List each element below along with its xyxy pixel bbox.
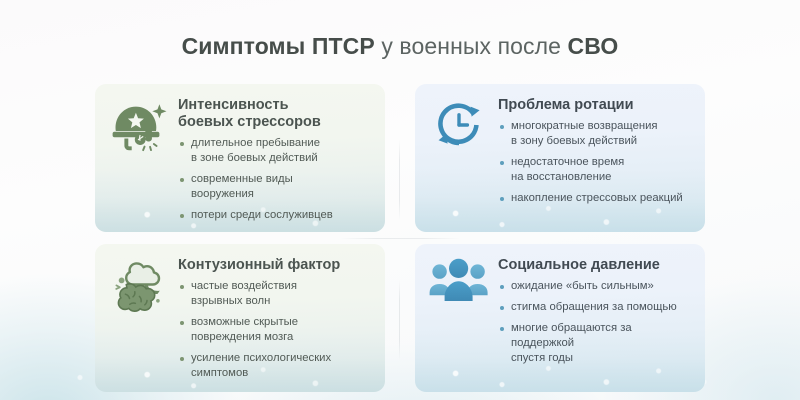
card-title-social-pressure: Социальное давление <box>498 257 692 274</box>
card-title-rotation-problem: Проблема ротации <box>498 97 692 114</box>
brain-blast-icon <box>108 256 170 320</box>
card-concussion-factor[interactable]: Контузионный фактор частые воздействия в… <box>95 244 385 392</box>
card-title-concussion-factor: Контузионный фактор <box>178 257 372 274</box>
list-item: стигма обращения за помощью <box>498 300 692 315</box>
card-body-social-pressure: Социальное давление ожидание «быть сильн… <box>498 256 692 366</box>
list-item: частые воздействия взрывных волн <box>178 279 372 309</box>
list-item: современные виды вооружения <box>178 172 372 202</box>
list-item: усиление психологических симптомов <box>178 351 372 381</box>
list-item: ожидание «быть сильным» <box>498 279 692 294</box>
bullet-list-combat-stressors: длительное пребывание в зоне боевых дейс… <box>178 136 372 223</box>
list-item: накопление стрессовых реакций <box>498 191 692 206</box>
bullet-list-rotation-problem: многократные возвращения в зону боевых д… <box>498 119 692 206</box>
clock-rotation-icon <box>428 96 490 160</box>
page-title: Симптомы ПТСР у военных после СВО <box>0 33 800 60</box>
page-title-strong-tail: СВО <box>568 33 619 59</box>
list-item: длительное пребывание в зоне боевых дейс… <box>178 136 372 166</box>
card-body-combat-stressors: Интенсивность боевых стрессоров длительн… <box>178 96 372 223</box>
bullet-list-concussion-factor: частые воздействия взрывных волн возможн… <box>178 279 372 381</box>
page-title-light-mid: у военных после <box>375 33 568 59</box>
card-combat-stressors[interactable]: Интенсивность боевых стрессоров длительн… <box>95 84 385 232</box>
list-item: многие обращаются за поддержкой спустя г… <box>498 321 692 366</box>
cards-grid: Интенсивность боевых стрессоров длительн… <box>95 84 705 392</box>
page-title-strong-lead: Симптомы ПТСР <box>182 33 375 59</box>
card-social-pressure[interactable]: Социальное давление ожидание «быть сильн… <box>415 244 705 392</box>
bullet-list-social-pressure: ожидание «быть сильным» стигма обращения… <box>498 279 692 366</box>
card-body-concussion-factor: Контузионный фактор частые воздействия в… <box>178 256 372 381</box>
list-item: потери среди сослуживцев <box>178 208 372 223</box>
card-title-combat-stressors: Интенсивность боевых стрессоров <box>178 97 372 131</box>
card-body-rotation-problem: Проблема ротации многократные возвращени… <box>498 96 692 206</box>
people-group-icon <box>428 256 490 320</box>
card-rotation-problem[interactable]: Проблема ротации многократные возвращени… <box>415 84 705 232</box>
list-item: недостаточное время на восстановление <box>498 155 692 185</box>
list-item: возможные скрытые повреждения мозга <box>178 315 372 345</box>
list-item: многократные возвращения в зону боевых д… <box>498 119 692 149</box>
military-helmet-icon <box>108 96 170 160</box>
